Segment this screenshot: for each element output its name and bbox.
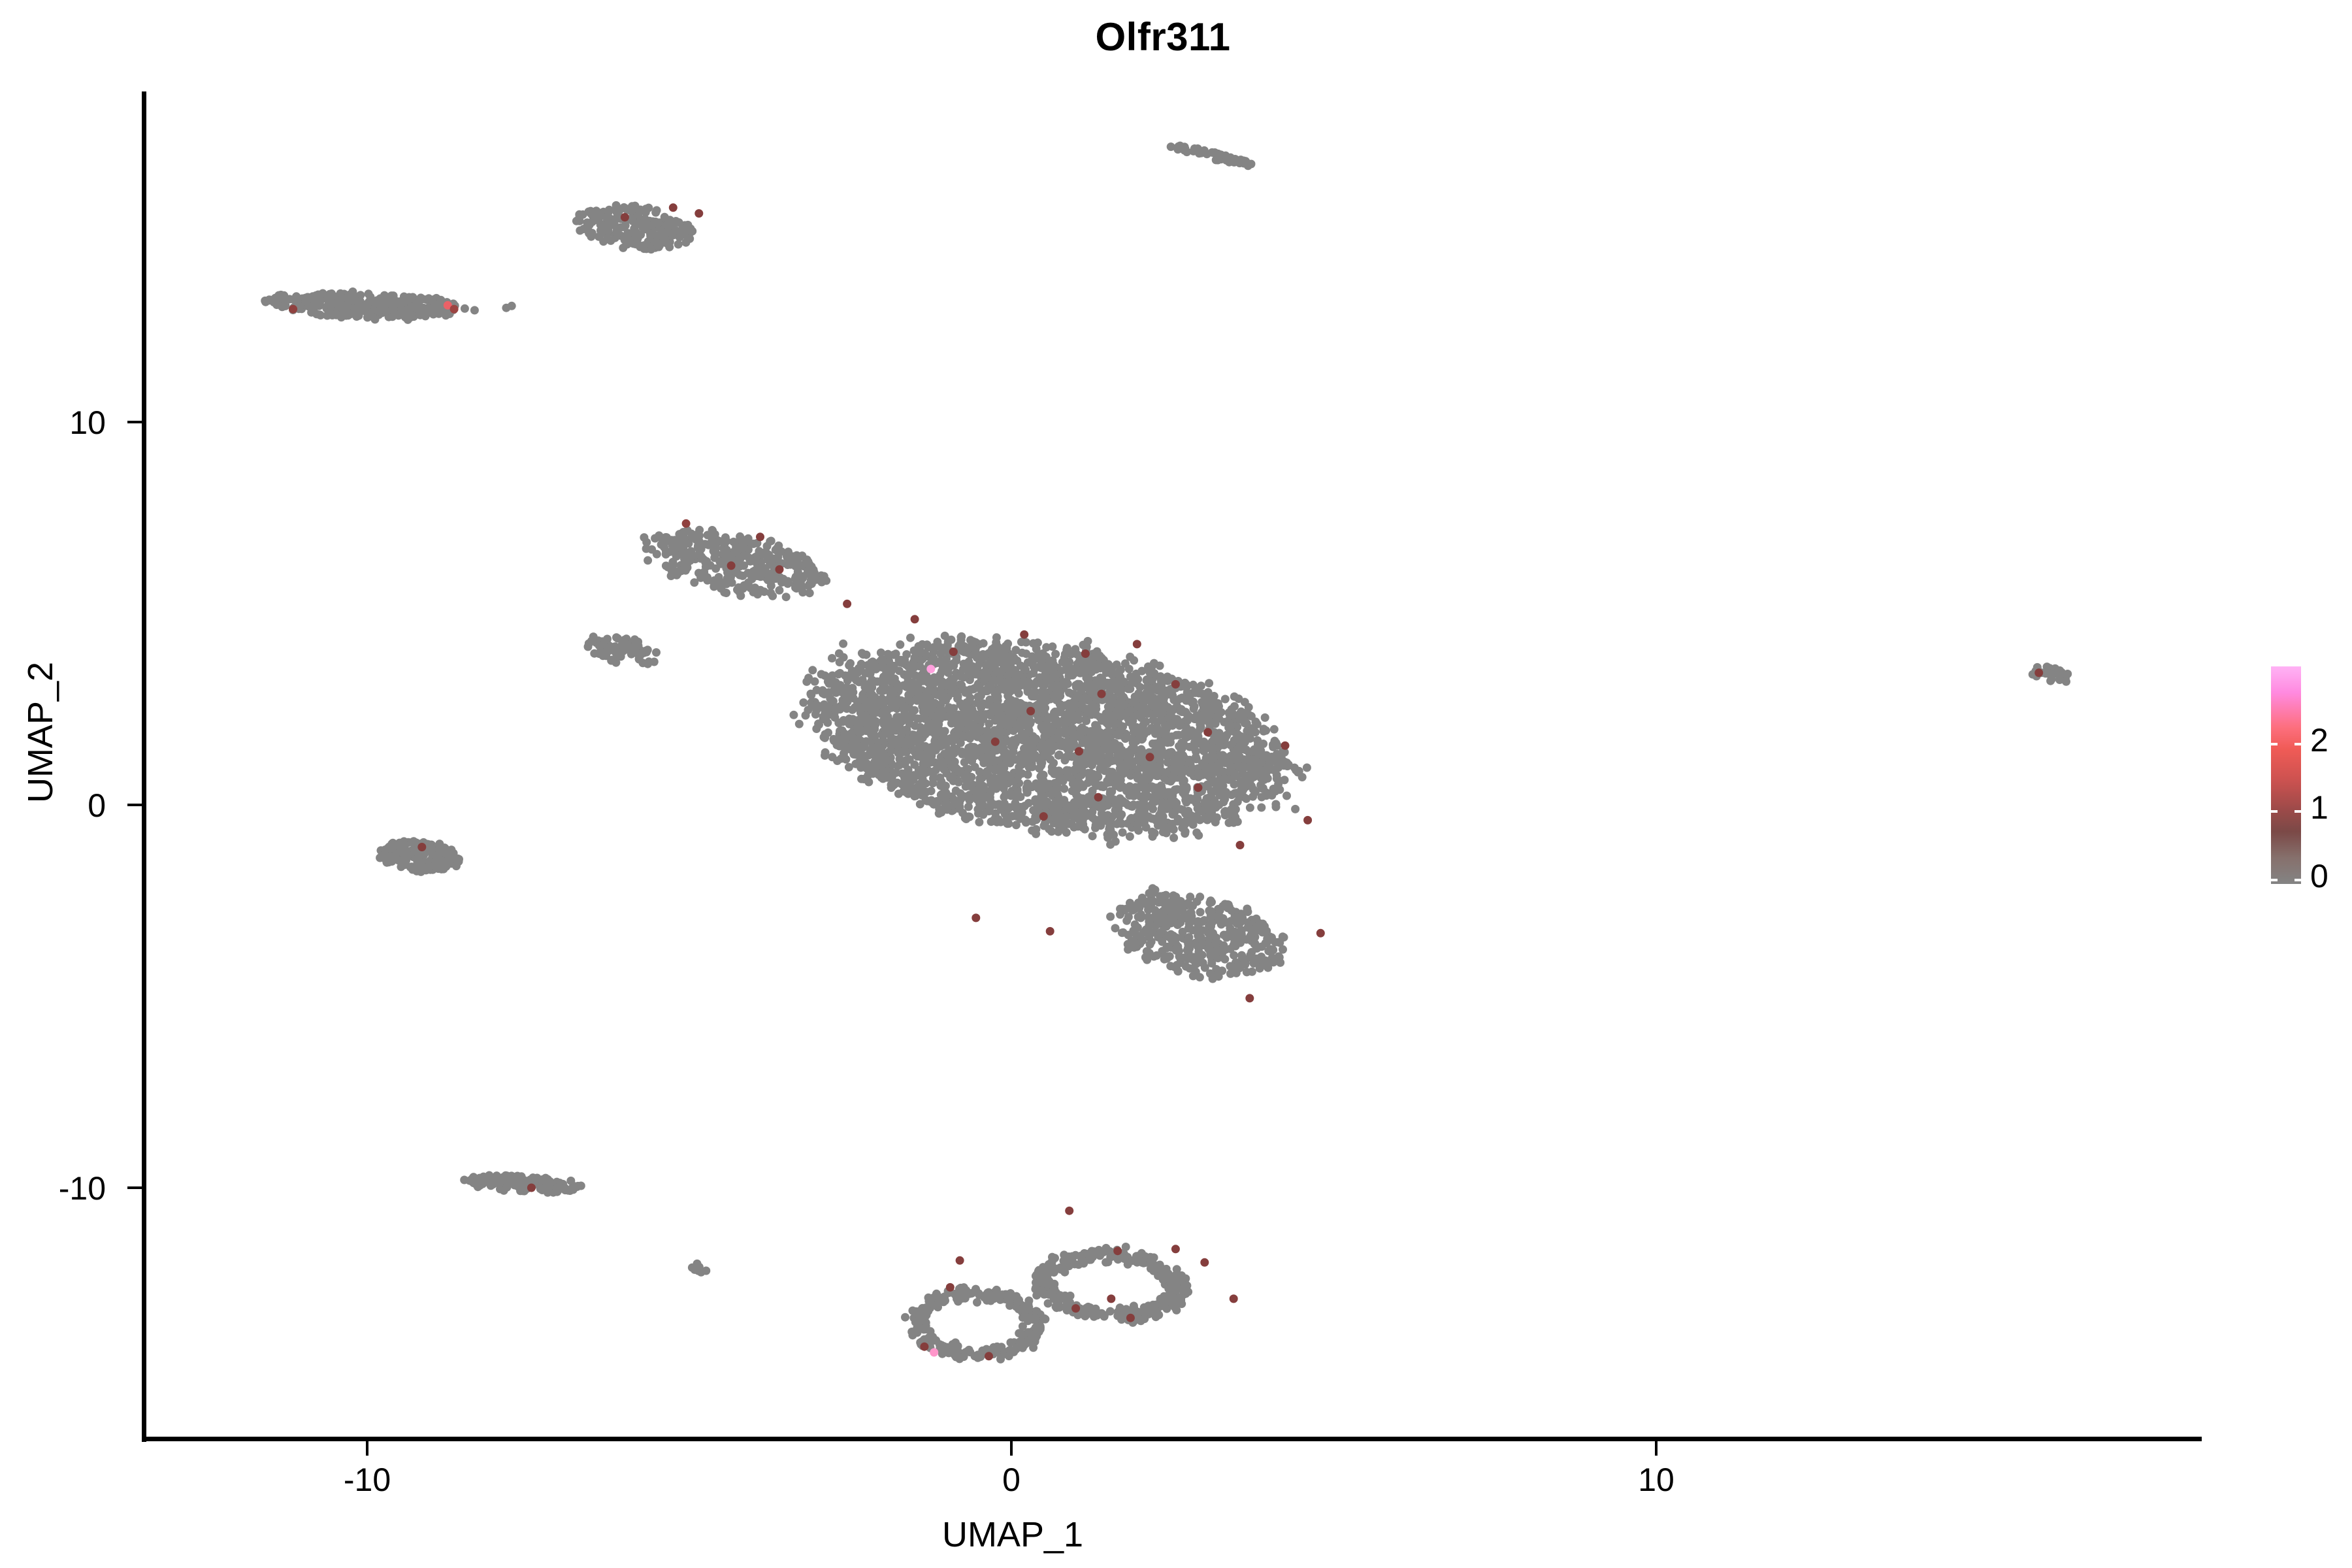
y-tick-1: [127, 804, 142, 806]
x-tick-label-0: -10: [302, 1461, 433, 1499]
chart-root: Olfr311 -10010100-10 UMAP_1 UMAP_2 210: [0, 0, 2352, 1568]
x-tick-0: [366, 1441, 368, 1456]
page-title: Olfr311: [0, 14, 2326, 59]
legend-colorbar: [2271, 666, 2301, 884]
legend-tick-2-r: [2295, 879, 2301, 881]
y-axis-title: UMAP_2: [20, 523, 61, 941]
x-axis-title: UMAP_1: [804, 1514, 1222, 1555]
x-tick-2: [1655, 1441, 1658, 1456]
legend-label-0: 2: [2310, 724, 2328, 757]
x-tick-1: [1010, 1441, 1013, 1456]
y-tick-label-0: 10: [0, 404, 106, 442]
x-axis-line: [144, 1437, 2202, 1441]
legend-tick-0-r: [2295, 743, 2301, 745]
x-tick-label-2: 10: [1591, 1461, 1722, 1499]
y-tick-2: [127, 1186, 142, 1189]
plot-panel: [144, 91, 2202, 1439]
legend-tick-0-l: [2271, 743, 2278, 745]
legend-label-1: 1: [2310, 791, 2328, 824]
legend-tick-1-r: [2295, 810, 2301, 813]
y-tick-label-2: -10: [0, 1169, 106, 1207]
legend-label-2: 0: [2310, 860, 2328, 892]
x-tick-label-1: 0: [946, 1461, 1077, 1499]
legend-tick-2-l: [2271, 879, 2278, 881]
color-legend: 210: [2271, 666, 2349, 928]
legend-tick-1-l: [2271, 810, 2278, 813]
y-axis-line: [142, 91, 146, 1442]
y-tick-0: [127, 421, 142, 423]
